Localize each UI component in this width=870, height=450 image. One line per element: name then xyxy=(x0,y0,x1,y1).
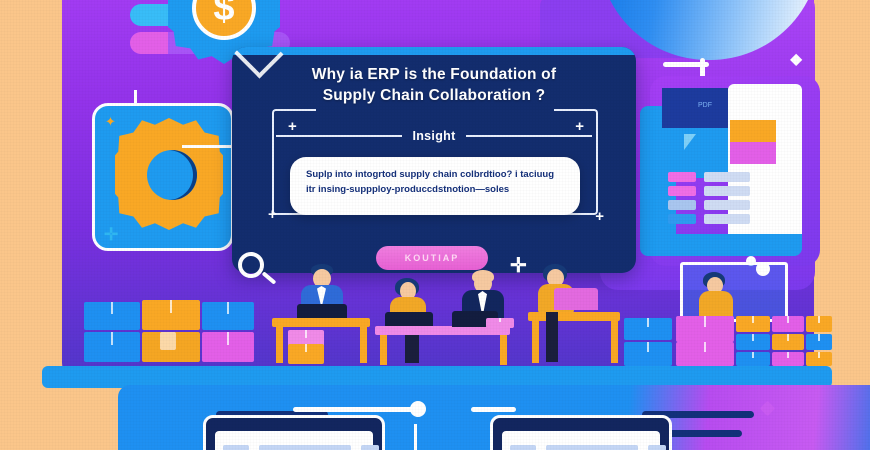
card-line xyxy=(510,445,536,450)
package-box xyxy=(676,342,734,366)
desk-leg xyxy=(611,321,618,363)
package-box xyxy=(772,316,804,332)
package-box xyxy=(736,316,770,332)
decor-bar-1-cap xyxy=(130,4,168,26)
package-box xyxy=(486,318,514,328)
dashboard-pink-block xyxy=(730,142,776,164)
card-line xyxy=(223,445,249,450)
insight-divider: Insight xyxy=(276,129,592,143)
dashboard-row-accent-1 xyxy=(668,172,696,182)
plus-icon-screen-lower-left: + xyxy=(268,207,277,222)
gear-feature-card: ✦ ✛ xyxy=(92,103,234,251)
desk xyxy=(528,312,620,321)
bottom-panel-white-dash xyxy=(471,407,516,412)
package-box xyxy=(142,300,200,330)
plus-icon-center: ✛ xyxy=(510,256,527,276)
bottom-card-right-body xyxy=(502,431,660,450)
dashboard-row-line-1 xyxy=(704,172,750,182)
package-box xyxy=(806,352,832,366)
desk-leg xyxy=(360,327,367,363)
dashboard-row-accent-4 xyxy=(668,214,696,224)
package-box xyxy=(736,334,770,350)
package-box xyxy=(84,332,140,362)
bottom-card-left-body xyxy=(215,431,373,450)
package-box xyxy=(84,302,140,330)
person-legs xyxy=(546,312,558,362)
page-title-line-2: Supply Chain Collaboration ? xyxy=(262,86,606,107)
dashboard-footer xyxy=(654,234,802,256)
dashboard-row-line-3 xyxy=(704,200,750,210)
dashboard-caption: PDF xyxy=(698,102,712,109)
desk xyxy=(272,318,370,327)
desk-leg xyxy=(276,327,283,363)
shelf-dot xyxy=(756,262,770,276)
dashboard-row-line-2 xyxy=(704,186,750,196)
plus-icon-card: ✛ xyxy=(104,226,118,243)
card-line xyxy=(259,445,351,450)
connector-line-left-top xyxy=(134,90,137,106)
dashboard-row-line-4 xyxy=(704,214,750,224)
card-line xyxy=(546,445,638,450)
page-title: Why ia ERP is the Foundation of Supply C… xyxy=(262,65,606,107)
dashboard-orange-block xyxy=(730,120,776,142)
package-box xyxy=(202,332,254,362)
illustration-canvas: $ ◆ ✦ ✛ PDF xyxy=(0,0,870,450)
package-box xyxy=(676,316,734,342)
connector-line-left-right xyxy=(182,145,238,148)
package-box xyxy=(772,334,804,350)
main-content-screen: Why ia ERP is the Foundation of Supply C… xyxy=(232,47,636,273)
dashboard-row-accent-3 xyxy=(668,200,696,210)
package-box xyxy=(736,352,770,366)
package-box xyxy=(624,342,672,366)
connector-line-bottom-center xyxy=(414,424,417,450)
dashboard-header-dark xyxy=(662,88,728,128)
laptop xyxy=(554,288,598,310)
desk-leg xyxy=(532,321,539,363)
decor-bar-2-cap xyxy=(130,32,168,54)
desk-leg xyxy=(500,335,507,365)
package-box xyxy=(288,344,324,364)
plus-icon-screen-lower-right: + xyxy=(595,209,604,224)
package-box-tape xyxy=(160,332,176,350)
dashboard-row-accent-2 xyxy=(668,186,696,196)
bottom-card-left xyxy=(203,415,385,450)
bottom-card-right xyxy=(490,415,672,450)
slider-knob[interactable] xyxy=(410,401,426,417)
laptop-lid xyxy=(554,288,598,310)
screen-top-bar xyxy=(232,47,636,55)
cta-button[interactable]: KOUTIAP xyxy=(376,246,488,270)
package-box xyxy=(806,334,832,350)
dashboard-card: PDF xyxy=(662,88,802,240)
magnifier-icon xyxy=(238,252,264,278)
package-box xyxy=(772,352,804,366)
gear-hole xyxy=(147,150,197,200)
insight-line-left xyxy=(276,135,402,137)
page-title-line-1: Why ia ERP is the Foundation of xyxy=(262,65,606,86)
desk-leg xyxy=(380,335,387,365)
card-line xyxy=(361,445,379,450)
shelf-frame-right xyxy=(680,262,788,322)
insight-line-right xyxy=(466,135,592,137)
package-box xyxy=(806,316,832,332)
desk-shadow xyxy=(405,335,419,363)
decor-line-lamp-left xyxy=(663,62,709,67)
insight-message-bubble: Suplp into intogrtod supply chain colbrd… xyxy=(290,157,580,215)
card-line xyxy=(648,445,666,450)
document-icon xyxy=(684,134,696,150)
package-box xyxy=(624,318,672,340)
slider-track[interactable] xyxy=(293,407,418,412)
insight-label: Insight xyxy=(412,129,455,143)
sparkle-icon-card: ✦ xyxy=(105,115,116,128)
package-box xyxy=(202,302,254,330)
sparkle-icon-topright: ◆ xyxy=(790,52,802,68)
